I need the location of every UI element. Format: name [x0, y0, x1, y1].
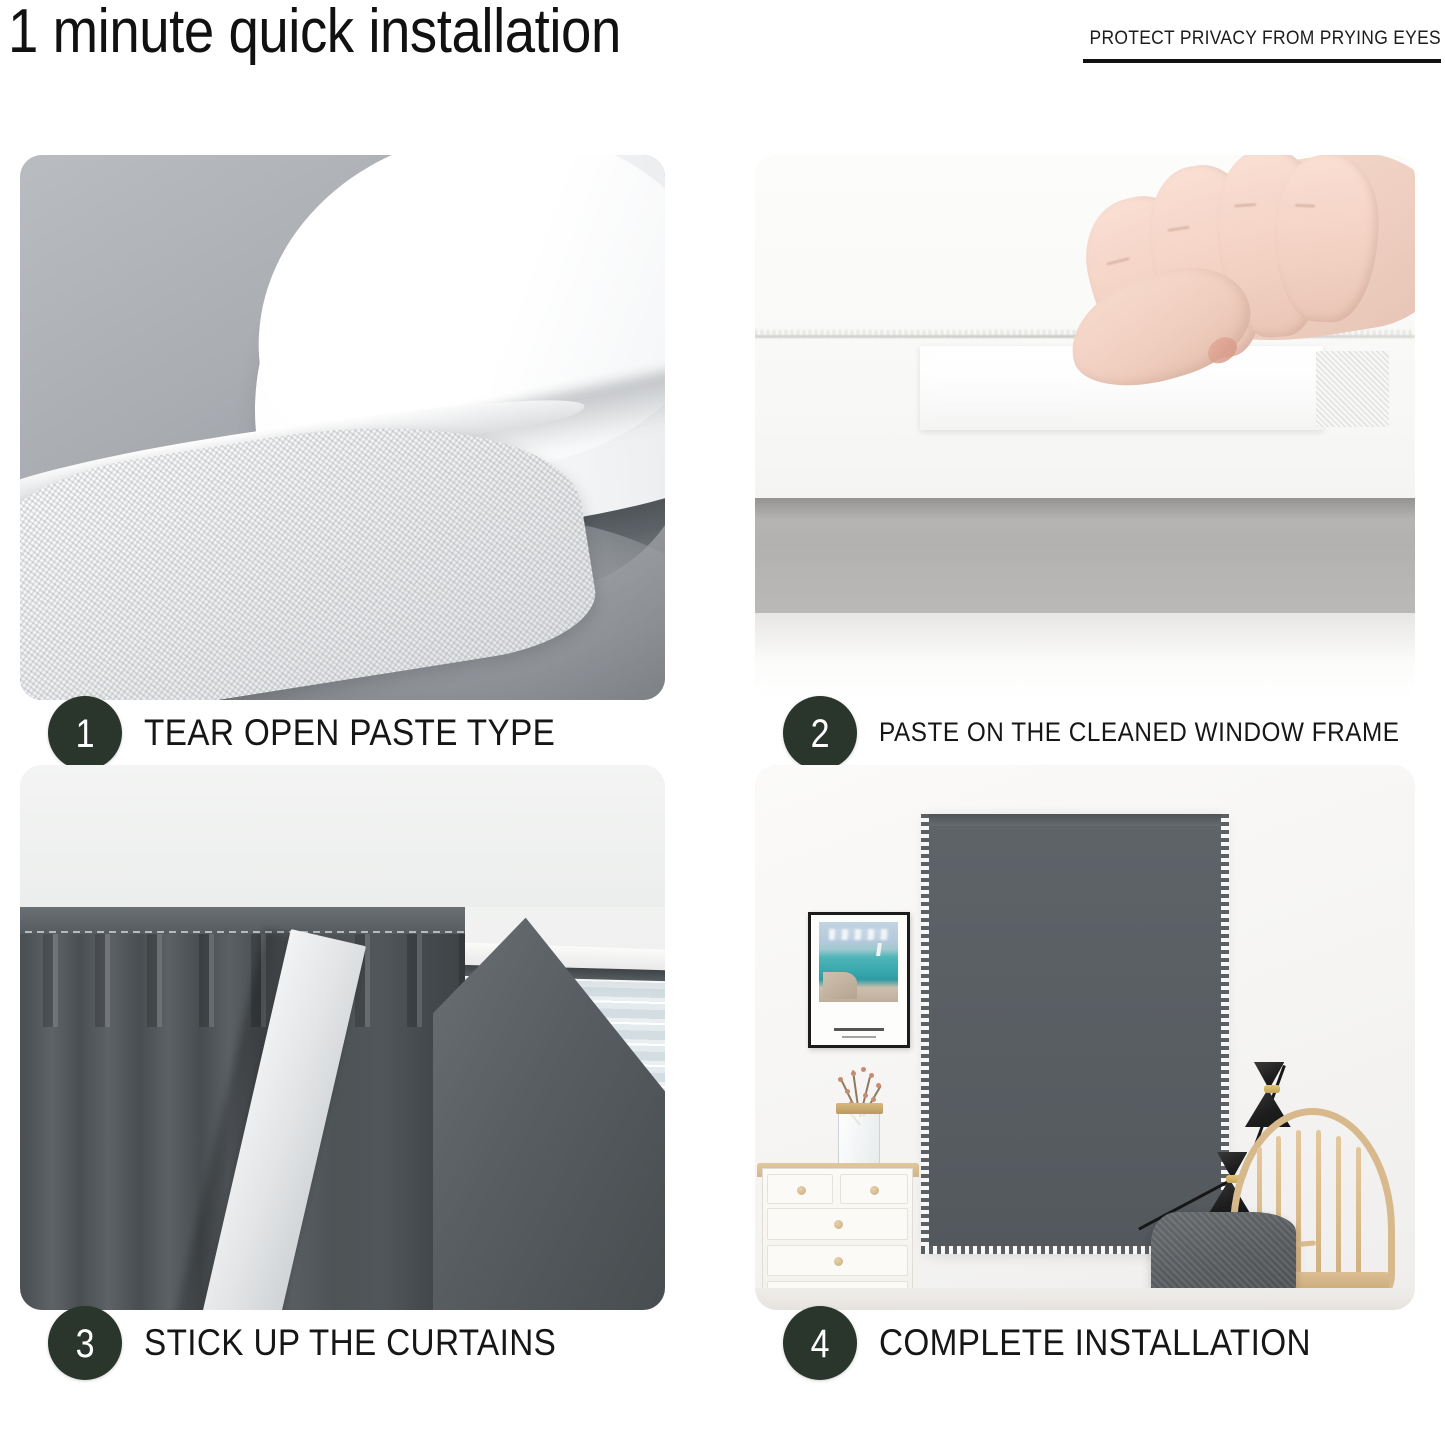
step-3-photo — [20, 765, 665, 1310]
step-1-photo — [20, 155, 665, 700]
steps-grid: 1 TEAR OPEN PASTE TYPE — [0, 130, 1445, 1455]
framed-artwork — [808, 912, 910, 1048]
step-label-3: STICK UP THE CURTAINS — [144, 1322, 556, 1364]
step-card-4: 4 COMPLETE INSTALLATION — [755, 765, 1415, 1310]
step-number-4: 4 — [811, 1324, 830, 1364]
step-4-caption-row: 4 COMPLETE INSTALLATION — [755, 1295, 1415, 1390]
step-label-4: COMPLETE INSTALLATION — [879, 1322, 1311, 1364]
step-badge-1: 1 — [48, 696, 122, 770]
step-4-photo — [755, 765, 1415, 1310]
hand-pressing-tape — [1045, 155, 1415, 406]
header: 1 minute quick installation PROTECT PRIV… — [0, 0, 1445, 130]
step-number-1: 1 — [76, 714, 95, 754]
step-card-2: 2 PASTE ON THE CLEANED WINDOW FRAME — [755, 155, 1415, 700]
step-number-2: 2 — [811, 714, 830, 754]
tagline-text: PROTECT PRIVACY FROM PRYING EYES — [1090, 28, 1441, 50]
tagline-underline — [1083, 59, 1441, 63]
step-3-caption-row: 3 STICK UP THE CURTAINS — [20, 1295, 665, 1390]
step-label-2: PASTE ON THE CLEANED WINDOW FRAME — [879, 717, 1400, 748]
installed-blackout-curtain — [927, 814, 1224, 1250]
step-badge-3: 3 — [48, 1306, 122, 1380]
step-label-1: TEAR OPEN PASTE TYPE — [144, 712, 555, 754]
step-badge-2: 2 — [783, 696, 857, 770]
step-2-photo — [755, 155, 1415, 700]
step-badge-4: 4 — [783, 1306, 857, 1380]
step-number-3: 3 — [76, 1324, 95, 1364]
step-card-1: 1 TEAR OPEN PASTE TYPE — [20, 155, 665, 700]
step-card-3: 3 STICK UP THE CURTAINS — [20, 765, 665, 1310]
page-title: 1 minute quick installation — [8, 0, 621, 67]
tagline-block: PROTECT PRIVACY FROM PRYING EYES — [1059, 28, 1441, 63]
